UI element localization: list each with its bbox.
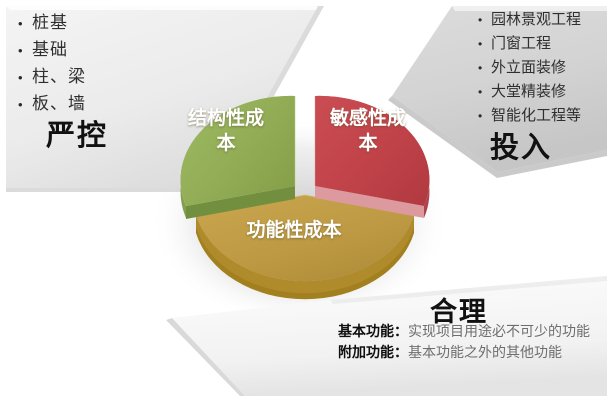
list-item: • 外立面装修: [478, 56, 581, 80]
bullet-icon: •: [478, 14, 491, 26]
definition-description: 实现项目用途必不可少的功能: [408, 323, 590, 339]
bullet-icon: •: [478, 86, 491, 98]
definition-row: 基本功能：实现项目用途必不可少的功能: [338, 322, 608, 341]
pie-slice-label-structural: 结构性成本: [180, 106, 272, 156]
list-item: • 门窗工程: [478, 32, 581, 56]
pie-slice-label-functional: 功能性成本: [232, 218, 356, 243]
pie-slice-label-sensitive: 敏感性成本: [322, 106, 414, 156]
list-item-label: 智能化工程等: [491, 104, 581, 125]
list-item-label: 桩基: [32, 8, 68, 33]
left-panel-heading: 严控: [46, 112, 108, 154]
definition-term: 基本功能：: [338, 323, 408, 339]
bullet-icon: •: [18, 44, 32, 57]
infographic-canvas: • 桩基 • 基础 • 柱、梁 • 板、墙 严控 • 园林景观工程 • 门窗工程…: [0, 0, 613, 400]
list-item: • 桩基: [18, 8, 86, 35]
bottom-panel-definitions: 基本功能：实现项目用途必不可少的功能 附加功能：基本功能之外的其他功能: [338, 322, 608, 364]
bullet-icon: •: [478, 110, 491, 122]
list-item-label: 板、墙: [32, 89, 86, 114]
definition-term: 附加功能：: [338, 344, 408, 360]
bullet-icon: •: [18, 17, 32, 30]
right-panel-heading: 投入: [490, 124, 552, 166]
left-panel-bullet-list: • 桩基 • 基础 • 柱、梁 • 板、墙: [18, 8, 86, 116]
list-item-label: 外立面装修: [491, 56, 566, 77]
bullet-icon: •: [478, 38, 491, 50]
definition-row: 附加功能：基本功能之外的其他功能: [338, 343, 608, 362]
list-item-label: 基础: [32, 35, 68, 60]
right-panel-bullet-list: • 园林景观工程 • 门窗工程 • 外立面装修 • 大堂精装修 • 智能化工程等: [478, 8, 581, 128]
bullet-icon: •: [18, 71, 32, 84]
list-item-label: 门窗工程: [491, 32, 551, 53]
list-item: • 大堂精装修: [478, 80, 581, 104]
list-item-label: 柱、梁: [32, 62, 86, 87]
list-item: • 园林景观工程: [478, 8, 581, 32]
definition-description: 基本功能之外的其他功能: [408, 344, 562, 360]
list-item-label: 园林景观工程: [491, 8, 581, 29]
bullet-icon: •: [18, 98, 32, 111]
bullet-icon: •: [478, 62, 491, 74]
list-item-label: 大堂精装修: [491, 80, 566, 101]
list-item: • 柱、梁: [18, 62, 86, 89]
list-item: • 基础: [18, 35, 86, 62]
